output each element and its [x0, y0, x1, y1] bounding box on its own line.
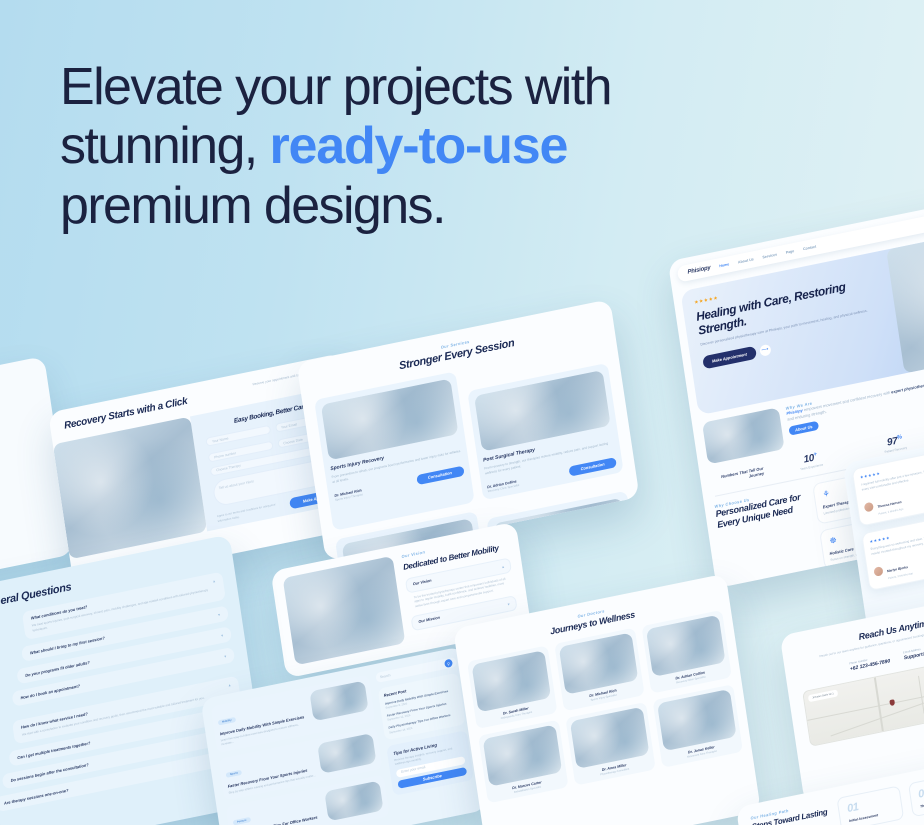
search-placeholder: Search: [379, 671, 391, 682]
arrow-icon[interactable]: ⟶: [759, 344, 771, 357]
team-member-card[interactable]: Dr. Michael Rich Sports Injury Specialis…: [554, 628, 644, 712]
search-icon[interactable]: ⚲: [444, 659, 453, 669]
faq-question: How do I book an appointment?: [20, 683, 80, 700]
testimonial-role: Patient, 3 Months Ago: [888, 572, 913, 580]
contact-phone[interactable]: Phone Number +62 123-456-7890: [849, 653, 891, 672]
testimonial-name: Marlyn Bjorka: [887, 565, 908, 573]
step-card[interactable]: 01 Initial Assessment: [837, 785, 904, 825]
consultation-button[interactable]: Consultation: [568, 457, 617, 476]
booking-image: [53, 417, 207, 560]
newsletter-box: Tips for Active Living Receive therapy i…: [386, 730, 474, 796]
blog-image: [324, 780, 383, 821]
mockup-stage: Phisiopy Home About Us Services Page Con…: [0, 0, 924, 825]
contact-email[interactable]: Email Address Support@mail.com: [903, 641, 924, 661]
award-icon: ⚘: [820, 488, 832, 501]
testimonial-role: Patient, 2 Months Ago: [878, 508, 903, 516]
chevron-up-icon: ▴: [228, 682, 231, 687]
mockup-contact[interactable]: Reach Us Anytime Reach out to our team a…: [780, 590, 924, 804]
chevron-down-icon: ▾: [221, 632, 224, 637]
blog-image: [309, 680, 368, 721]
avatar: [873, 566, 883, 577]
blog-tag: Mobility: [218, 717, 236, 726]
faq-question: What should I bring to my first session?: [30, 635, 105, 655]
stat-years-experience: 10+ Years Experience: [772, 445, 849, 476]
faq-question: Can I get multiple treatments together?: [17, 740, 91, 760]
accordion-title: Our Vision: [413, 579, 432, 587]
recent-posts-box: Recent Post Improve Daily Mobility With …: [378, 673, 466, 740]
chevron-up-icon: ▴: [502, 563, 505, 568]
chevron-up-icon: ▴: [213, 578, 216, 583]
team-member-card[interactable]: Dr. Adrian Collins Recovery Clinic Speci…: [641, 610, 731, 694]
stats-label: Numbers That Tell Our Journey: [712, 465, 765, 486]
chevron-down-icon: ▾: [218, 612, 221, 617]
holistic-icon: ☸: [827, 534, 839, 547]
brand-logo[interactable]: Phisiopy: [687, 265, 711, 276]
blog-tag: Posture: [233, 817, 251, 825]
faq-question: Do sessions begin after the consultation…: [10, 762, 89, 783]
therapy-placeholder: Choose Therapy: [211, 460, 247, 476]
nav-link-home[interactable]: Home: [719, 262, 729, 268]
team-member-card[interactable]: Dr. Jonas Keller Movement Care Therapist: [653, 684, 743, 768]
nav-link-about[interactable]: About Us: [738, 257, 754, 264]
mockup-services[interactable]: Our Services Stronger Every Session Spor…: [296, 299, 639, 561]
about-us-button[interactable]: About Us: [788, 421, 819, 436]
make-appointment-button[interactable]: Make Appointment: [702, 346, 756, 370]
chevron-down-icon: ▾: [507, 601, 510, 606]
team-member-card[interactable]: Dr. Sarah Miller Orthopaedic Care Therap…: [467, 645, 557, 729]
faq-question: Do your programs fit older adults?: [25, 660, 90, 678]
team-member-card[interactable]: Dr. Anna Miller Physiotherapy Consultant: [565, 702, 655, 786]
avatar: [864, 502, 874, 513]
chevron-down-icon: ▾: [224, 653, 227, 658]
map-pin-icon: [889, 699, 895, 706]
stat-suffix: +: [813, 452, 817, 459]
blog-image: [317, 733, 376, 774]
map-location-chip: Jl Raden Saleh No.1: [808, 689, 838, 702]
about-image: [702, 407, 785, 464]
accordion-title: Our Mission: [418, 616, 440, 624]
step-number: 02: [917, 780, 924, 801]
stat-suffix: %: [896, 434, 902, 441]
nav-link-page[interactable]: Page: [786, 249, 795, 255]
consultation-button[interactable]: Consultation: [416, 466, 465, 485]
nav-link-services[interactable]: Services: [762, 253, 777, 260]
step-card[interactable]: 02 Therapy Plan: [908, 771, 924, 817]
team-member-card[interactable]: Dr. Marcus Carter Rehabilitation Special…: [478, 720, 568, 804]
service-detail-card-post-surgical[interactable]: Post Surgical Therapy From recovery to s…: [467, 363, 624, 500]
testimonial-name: Theresa Hansen: [877, 500, 902, 509]
nav-link-contact[interactable]: Contact: [803, 245, 817, 252]
faq-question: Are therapy sessions one-on-one?: [3, 787, 68, 805]
service-detail-card-sports[interactable]: Sports Injury Recovery From prevention t…: [314, 371, 474, 530]
about-photo: [283, 556, 406, 665]
blog-tag: Sports: [226, 769, 243, 777]
